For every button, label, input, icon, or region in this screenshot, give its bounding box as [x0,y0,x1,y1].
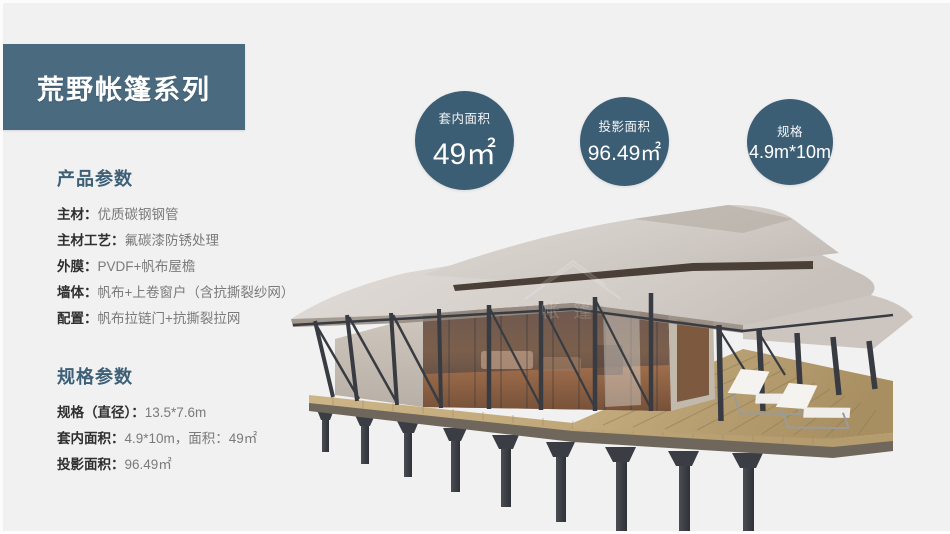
param-value: 氟碳漆防锈处理 [125,233,220,248]
tent-illustration: 帐 篷 [273,199,950,534]
stat-circle-dimensions[interactable]: 规格 4.9m*10m [747,99,833,185]
param-value: 4.9*10m，面积：49㎡ [125,431,258,446]
stat-label: 投影面积 [598,116,650,135]
param-label: 规格（直径）： [57,405,145,420]
param-label: 墙体： [57,285,98,300]
param-label: 配置： [57,311,98,326]
param-label: 投影面积： [57,457,125,472]
stat-value: 49㎡ [433,129,496,173]
stat-value: 4.9m*10m [749,142,831,163]
param-value: PVDF+帆布屋檐 [98,259,196,274]
stat-value: 96.49㎡ [588,137,662,167]
title-banner: 荒野帐篷系列 [3,44,245,130]
stat-circle-projected-area[interactable]: 投影面积 96.49㎡ [580,97,669,186]
page-title: 荒野帐篷系列 [37,68,211,107]
stat-label: 规格 [777,121,803,140]
param-value: 帆布+上卷窗户（含抗撕裂纱网） [98,285,295,300]
tent-render-svg: 帐 篷 [273,199,950,534]
stat-circle-indoor-area[interactable]: 套内面积 49㎡ [415,91,514,190]
slide-canvas: 荒野帐篷系列 产品参数 主材：优质碳钢钢管 主材工艺：氟碳漆防锈处理 外膜：PV… [0,0,950,534]
param-value: 96.49㎡ [125,457,172,472]
param-value: 13.5*7.6m [145,405,207,420]
param-label: 外膜： [57,259,98,274]
stat-label: 套内面积 [438,108,490,127]
section-heading-product: 产品参数 [57,165,357,191]
watermark-text: 帐 篷 [541,300,596,322]
param-value: 帆布拉链门+抗撕裂拉网 [98,311,241,326]
param-label: 主材： [57,207,98,222]
param-label: 主材工艺： [57,233,125,248]
param-value: 优质碳钢钢管 [98,207,179,222]
param-label: 套内面积： [57,431,125,446]
